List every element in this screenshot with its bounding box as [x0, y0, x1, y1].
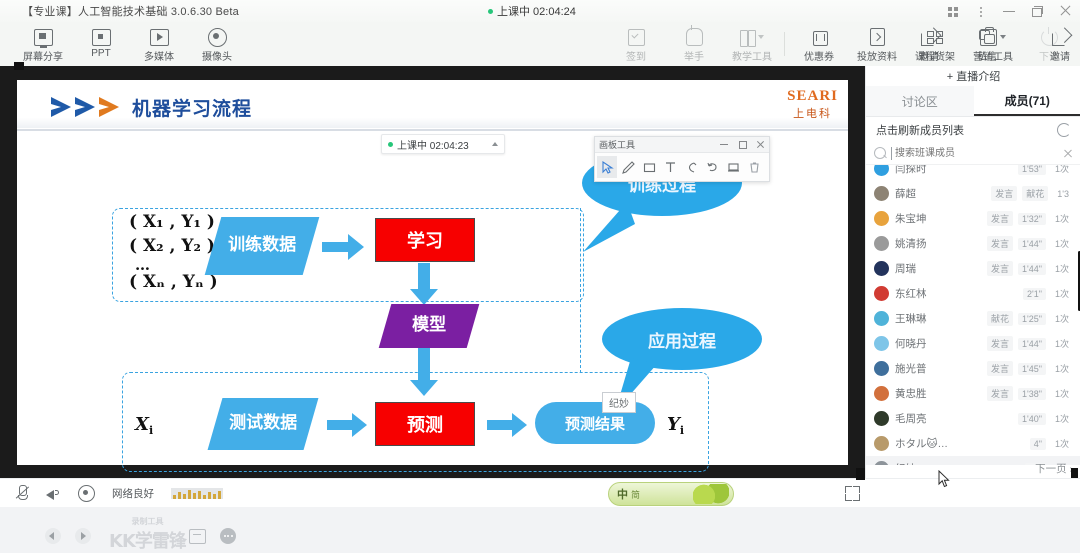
user-annotation-label: 纪妙 [602, 392, 636, 413]
member-tags: 献花1'25"1次 [987, 311, 1073, 326]
mic-muted-icon[interactable] [16, 485, 29, 501]
member-tags: 发言1'32"1次 [987, 211, 1073, 226]
toolbar-item-private-message[interactable]: 私信 [958, 25, 1016, 64]
member-row[interactable]: 何晓丹发言1'44"1次 [866, 331, 1080, 356]
window-title: 【专业课】人工智能技术基础 3.0.6.30 Beta [22, 3, 239, 19]
whiteboard-window-controls [720, 140, 765, 149]
toolbar-item-end-class[interactable]: 下课 [1026, 25, 1072, 64]
toolbar-item-camera[interactable]: 摄像头 [188, 25, 246, 64]
tab-members[interactable]: 成员(71) [974, 86, 1080, 116]
training-input-row2: ( X₂ , Y₂ ) [129, 236, 215, 256]
member-tags: 发言1'44"1次 [987, 236, 1073, 251]
toolbar-divider [784, 32, 785, 56]
slide-controls [45, 528, 236, 544]
toolbar-item-raise-hand[interactable]: 举手 [665, 25, 723, 64]
invite-icon [900, 27, 958, 47]
slide-header: 机器学习流程 SEARI 上电科 [17, 80, 848, 128]
node-model: 模型 [379, 304, 480, 348]
screen-share-icon [14, 27, 72, 47]
panel-tabs: 讨论区 成员(71) [866, 86, 1080, 117]
member-tag: 1次 [1051, 436, 1073, 451]
status-dot [488, 9, 493, 14]
collapse-icon[interactable] [845, 486, 860, 501]
member-name: 姚清扬 [895, 236, 927, 251]
timer-label: 上课中 02:04:23 [397, 137, 469, 152]
node-training-data: 训练数据 [205, 217, 320, 275]
camera-icon[interactable] [78, 485, 95, 502]
member-tag: 1次 [1051, 361, 1073, 376]
node-predict: 预测 [375, 402, 475, 446]
minimize-icon[interactable] [1002, 4, 1016, 18]
member-search-row[interactable] [866, 142, 1080, 165]
member-name: 薛超 [895, 186, 916, 201]
member-tag: 1'45" [1018, 363, 1046, 375]
member-tag: 发言 [987, 211, 1013, 226]
toolbar-item-ppt[interactable]: PPT [72, 25, 130, 64]
avatar [874, 261, 889, 276]
avatar [874, 461, 889, 465]
avatar [874, 336, 889, 351]
member-name: 黄忠胜 [895, 386, 927, 401]
whiteboard-tool-row [595, 153, 769, 181]
mouse-cursor [938, 470, 950, 488]
grid-icon[interactable] [946, 4, 960, 18]
member-tags: 发言1'38"1次 [987, 386, 1073, 401]
member-tag: 发言 [987, 261, 1013, 276]
member-name: ホタル🐱… [895, 436, 948, 451]
camera-icon [188, 27, 246, 47]
capture-artifact-mid [856, 468, 865, 480]
next-page-link[interactable]: 下一页 › [1035, 461, 1073, 476]
arrow-model-to-predict [410, 348, 438, 401]
avatar [874, 361, 889, 376]
avatar [874, 286, 889, 301]
chevron-decoration-icon [49, 96, 121, 118]
undo-tool-icon[interactable] [702, 156, 722, 178]
coupon-icon [790, 27, 848, 47]
member-row[interactable]: 薛超发言献花1'3 [866, 181, 1080, 206]
member-tag: 1'3 [1053, 188, 1073, 200]
member-tag: 献花 [987, 311, 1013, 326]
member-tags: 2'1"1次 [1023, 286, 1073, 301]
more-icon[interactable] [974, 4, 988, 18]
whiteboard-close-icon[interactable] [756, 140, 765, 149]
text-tool-icon[interactable] [660, 156, 680, 178]
rectangle-tool-icon[interactable] [639, 156, 659, 178]
member-tags: 发言1'45"1次 [987, 361, 1073, 376]
arrow-predict-to-result [487, 413, 527, 442]
member-tag: 1次 [1051, 311, 1073, 326]
raise-hand-icon [665, 27, 723, 47]
member-tag: 1'25" [1018, 313, 1046, 325]
capture-artifact-right [1071, 468, 1078, 478]
member-tag: 1'32" [1018, 213, 1046, 225]
speaker-icon[interactable] [46, 486, 61, 500]
timer-status-dot [388, 142, 393, 147]
member-name: 王琳琳 [895, 311, 927, 326]
member-tag: 发言 [991, 186, 1017, 201]
member-tag: 1次 [1051, 411, 1073, 426]
slide-more-icon[interactable] [220, 528, 236, 544]
member-tag: 发言 [987, 386, 1013, 401]
member-tag: 1次 [1051, 386, 1073, 401]
member-tags: 发言1'44"1次 [987, 261, 1073, 276]
toolbar-item-screen-share[interactable]: 屏幕分享 [14, 25, 72, 64]
member-name: 何晓丹 [895, 336, 927, 351]
member-row[interactable]: ホタル🐱…4"1次 [866, 431, 1080, 456]
test-input-label: Xi [135, 414, 153, 437]
next-slide-button[interactable] [75, 528, 91, 544]
live-intro-link[interactable]: + 直播介绍 [866, 66, 1080, 86]
output-label: Yi [667, 414, 684, 437]
member-tag: 1次 [1051, 165, 1073, 176]
seari-logo: SEARI 上电科 [787, 88, 838, 121]
push-material-icon [848, 27, 906, 47]
member-name: 纪妙 [895, 461, 916, 465]
member-tag: 献花 [1022, 186, 1048, 201]
member-name: 毛周亮 [895, 411, 927, 426]
member-tag: 1'44" [1018, 263, 1046, 275]
member-name: 施光普 [895, 361, 927, 376]
tab-discussion[interactable]: 讨论区 [866, 86, 974, 116]
member-row[interactable]: 闫探时1'53"1次 [866, 165, 1080, 181]
search-input[interactable] [891, 147, 1063, 160]
bottom-status-bar: 网络良好 中 简 [0, 478, 1080, 507]
training-input-rowN: ( Xₙ , Yₙ ) [129, 272, 218, 292]
ime-mode: 简 [631, 488, 640, 501]
check-in-icon [607, 27, 665, 47]
member-tags: 发言献花1'3 [991, 186, 1073, 201]
member-tag: 1'44" [1018, 238, 1046, 250]
ime-decoration-icon [693, 484, 729, 504]
slide-title: 机器学习流程 [132, 94, 252, 121]
whiteboard-minimize-icon[interactable] [720, 140, 729, 149]
ppt-icon [72, 27, 130, 47]
refresh-members-row[interactable]: 点击刷新成员列表 [866, 117, 1080, 142]
chevron-up-icon[interactable] [492, 142, 498, 146]
member-tag: 1'38" [1018, 388, 1046, 400]
eraser-tool-icon[interactable] [681, 156, 701, 178]
avatar [874, 186, 889, 201]
member-name: 闫探时 [895, 165, 927, 176]
member-tag: 发言 [987, 336, 1013, 351]
member-tag: 1次 [1051, 236, 1073, 251]
bottom-left-controls: 网络良好 [16, 479, 223, 507]
toolbar-item-teaching-tools[interactable]: 教学工具 [723, 25, 781, 64]
toolbar-item-invite-real[interactable]: 邀请 [900, 25, 958, 64]
member-tag: 1次 [1051, 286, 1073, 301]
arrow-test-to-predict [327, 413, 367, 442]
whiteboard-toolbar[interactable]: 画板工具 [594, 136, 770, 182]
member-list[interactable]: 闫探时1'53"1次薛超发言献花1'3朱宝坤发言1'32"1次姚清扬发言1'44… [866, 165, 1080, 465]
slide-notes-icon[interactable] [189, 529, 206, 544]
right-panel: + 直播介绍 讨论区 成员(71) 点击刷新成员列表 闫探时1'53"1次薛超发… [865, 66, 1080, 478]
node-test-data: 测试数据 [208, 398, 319, 450]
private-message-icon [958, 27, 1016, 47]
close-icon[interactable] [1058, 4, 1072, 18]
network-status-label: 网络良好 [112, 486, 154, 501]
avatar [874, 436, 889, 451]
refresh-icon[interactable] [1057, 123, 1071, 137]
select-tool-icon[interactable] [597, 156, 617, 178]
member-tag: 1次 [1051, 336, 1073, 351]
member-tag: 1次 [1051, 211, 1073, 226]
toolbar-item-multimedia[interactable]: 多媒体 [130, 25, 188, 64]
avatar [874, 386, 889, 401]
delete-tool-icon[interactable] [744, 156, 764, 178]
arrow-train-to-learn [322, 234, 364, 265]
whiteboard-title: 画板工具 [599, 138, 635, 151]
whiteboard-maximize-icon[interactable] [738, 140, 747, 149]
member-row[interactable]: 王琳琳献花1'25"1次 [866, 306, 1080, 331]
multimedia-icon [130, 27, 188, 47]
member-tag: 发言 [987, 361, 1013, 376]
title-bar: 【专业课】人工智能技术基础 3.0.6.30 Beta 上课中 02:04:24 [0, 0, 1080, 22]
member-tags: 4"1次 [1030, 436, 1073, 451]
member-tag: 1次 [1051, 261, 1073, 276]
member-tag: 1'44" [1018, 338, 1046, 350]
search-icon [874, 147, 886, 159]
ime-indicator[interactable]: 中 简 [608, 482, 734, 506]
whiteboard-toolbar-header: 画板工具 [595, 137, 769, 153]
member-tag: 2'1" [1023, 288, 1046, 300]
member-tag: 1'53" [1018, 165, 1046, 175]
live-class-app: 【专业课】人工智能技术基础 3.0.6.30 Beta 上课中 02:04:24… [0, 0, 1080, 506]
class-timer-float[interactable]: 上课中 02:04:23 [381, 134, 505, 154]
ime-language: 中 [617, 486, 628, 502]
member-row[interactable]: 黄忠胜发言1'38"1次 [866, 381, 1080, 406]
avatar [874, 411, 889, 426]
avatar [874, 165, 889, 176]
member-name: 朱宝坤 [895, 211, 927, 226]
toolbar-item-coupon[interactable]: 优惠券 [790, 25, 848, 64]
clear-search-icon[interactable] [1063, 148, 1073, 158]
refresh-label: 点击刷新成员列表 [876, 122, 964, 138]
node-learn: 学习 [375, 218, 475, 262]
toolbar-item-check-in[interactable]: 签到 [607, 25, 665, 64]
member-tag: 发言 [987, 236, 1013, 251]
presentation-stage: 机器学习流程 SEARI 上电科 ( X₁ , Y₁ ) ( X₂ , Y₂ )… [0, 66, 865, 478]
member-name: 周瑞 [895, 261, 916, 276]
member-tag: 4" [1030, 438, 1046, 450]
member-name: 东红林 [895, 286, 927, 301]
training-input-row1: ( X₁ , Y₁ ) [129, 212, 215, 232]
network-meter [171, 488, 223, 499]
laptop-tool-icon[interactable] [723, 156, 743, 178]
toolbar-item-push-material[interactable]: 投放资料 [848, 25, 906, 64]
member-row[interactable]: 朱宝坤发言1'32"1次 [866, 206, 1080, 231]
class-status: 上课中 02:04:24 [488, 3, 576, 19]
avatar [874, 311, 889, 326]
teaching-tools-icon [723, 27, 781, 47]
end-class-icon [1026, 27, 1072, 47]
member-tags: 发言1'44"1次 [987, 336, 1073, 351]
member-row[interactable]: 周瑞发言1'44"1次 [866, 256, 1080, 281]
prev-slide-button[interactable] [45, 528, 61, 544]
avatar [874, 211, 889, 226]
pen-tool-icon[interactable] [618, 156, 638, 178]
maximize-icon[interactable] [1030, 4, 1044, 18]
member-tags: 1'40"1次 [1018, 411, 1073, 426]
member-row[interactable]: 东红林2'1"1次 [866, 281, 1080, 306]
member-row[interactable]: 毛周亮1'40"1次 [866, 406, 1080, 431]
window-controls [946, 0, 1072, 22]
member-tags: 1'53"1次 [1018, 165, 1073, 176]
capture-artifact-left [14, 62, 24, 70]
member-row[interactable]: 姚清扬发言1'44"1次 [866, 231, 1080, 256]
arrow-learn-to-model [410, 263, 438, 310]
member-tag: 1'40" [1018, 413, 1046, 425]
avatar [874, 236, 889, 251]
member-row[interactable]: 施光普发言1'45"1次 [866, 356, 1080, 381]
